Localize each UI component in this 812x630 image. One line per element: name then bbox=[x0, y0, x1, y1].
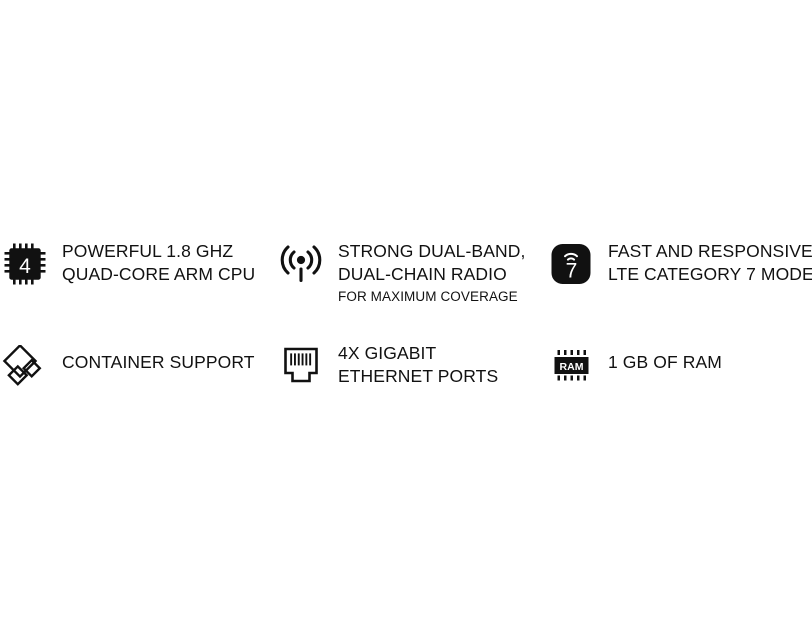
feature-text-lte-modem: FAST AND RESPONSIVE LTE CATEGORY 7 MODEM bbox=[608, 238, 812, 286]
feature-row-bottom: CONTAINER SUPPORT 4X GIGABIT bbox=[0, 340, 812, 391]
feature-title-lte-modem: FAST AND RESPONSIVE LTE CATEGORY 7 MODEM bbox=[608, 240, 812, 286]
feature-row-top: 4 POWERFUL 1.8 GHZ QUAD-CORE ARM CPU bbox=[0, 238, 812, 306]
feature-title-line-2: DUAL-CHAIN RADIO bbox=[338, 263, 525, 286]
feature-item-lte-modem: 7 FAST AND RESPONSIVE LTE CATEGORY 7 MOD… bbox=[548, 238, 812, 287]
feature-title-line-1: FAST AND RESPONSIVE bbox=[608, 240, 812, 263]
container-diamonds-icon bbox=[2, 345, 48, 391]
feature-text-container-support: CONTAINER SUPPORT bbox=[62, 340, 255, 374]
feature-item-ethernet: 4X GIGABIT ETHERNET PORTS bbox=[275, 340, 548, 391]
ram-module-label: RAM bbox=[560, 361, 584, 373]
feature-text-ram: 1 GB OF RAM bbox=[608, 340, 722, 374]
ethernet-port-icon bbox=[278, 345, 324, 391]
feature-title-line-1: CONTAINER SUPPORT bbox=[62, 351, 255, 374]
feature-title-line-1: STRONG DUAL-BAND, bbox=[338, 240, 525, 263]
feature-title-line-1: 4X GIGABIT bbox=[338, 342, 498, 365]
feature-title-line-2: ETHERNET PORTS bbox=[338, 365, 498, 388]
feature-title-ram: 1 GB OF RAM bbox=[608, 351, 722, 374]
feature-title-line-2: QUAD-CORE ARM CPU bbox=[62, 263, 255, 286]
cpu-chip-icon: 4 bbox=[2, 241, 48, 287]
feature-title-radio: STRONG DUAL-BAND, DUAL-CHAIN RADIO bbox=[338, 240, 525, 286]
ram-module-icon: RAM bbox=[548, 345, 594, 391]
feature-text-cpu: POWERFUL 1.8 GHZ QUAD-CORE ARM CPU bbox=[62, 238, 255, 286]
feature-item-ram: RAM 1 GB OF RAM bbox=[548, 340, 812, 391]
feature-item-container-support: CONTAINER SUPPORT bbox=[0, 340, 275, 391]
feature-title-cpu: POWERFUL 1.8 GHZ QUAD-CORE ARM CPU bbox=[62, 240, 255, 286]
feature-title-line-1: 1 GB OF RAM bbox=[608, 351, 722, 374]
specs-board: 4 POWERFUL 1.8 GHZ QUAD-CORE ARM CPU bbox=[0, 0, 812, 630]
feature-title-ethernet: 4X GIGABIT ETHERNET PORTS bbox=[338, 342, 498, 388]
lte-category-label: 7 bbox=[566, 260, 578, 283]
feature-title-container-support: CONTAINER SUPPORT bbox=[62, 351, 255, 374]
antenna-radio-icon bbox=[278, 241, 324, 287]
feature-text-ethernet: 4X GIGABIT ETHERNET PORTS bbox=[338, 340, 498, 388]
feature-title-line-2: LTE CATEGORY 7 MODEM bbox=[608, 263, 812, 286]
feature-item-cpu: 4 POWERFUL 1.8 GHZ QUAD-CORE ARM CPU bbox=[0, 238, 275, 287]
feature-text-radio: STRONG DUAL-BAND, DUAL-CHAIN RADIO FOR M… bbox=[338, 238, 525, 306]
feature-title-line-1: POWERFUL 1.8 GHZ bbox=[62, 240, 255, 263]
lte-modem-icon: 7 bbox=[548, 241, 594, 287]
feature-item-radio: STRONG DUAL-BAND, DUAL-CHAIN RADIO FOR M… bbox=[275, 238, 548, 306]
feature-subtitle-radio: FOR MAXIMUM COVERAGE bbox=[338, 287, 525, 306]
cpu-core-count-label: 4 bbox=[19, 255, 31, 278]
